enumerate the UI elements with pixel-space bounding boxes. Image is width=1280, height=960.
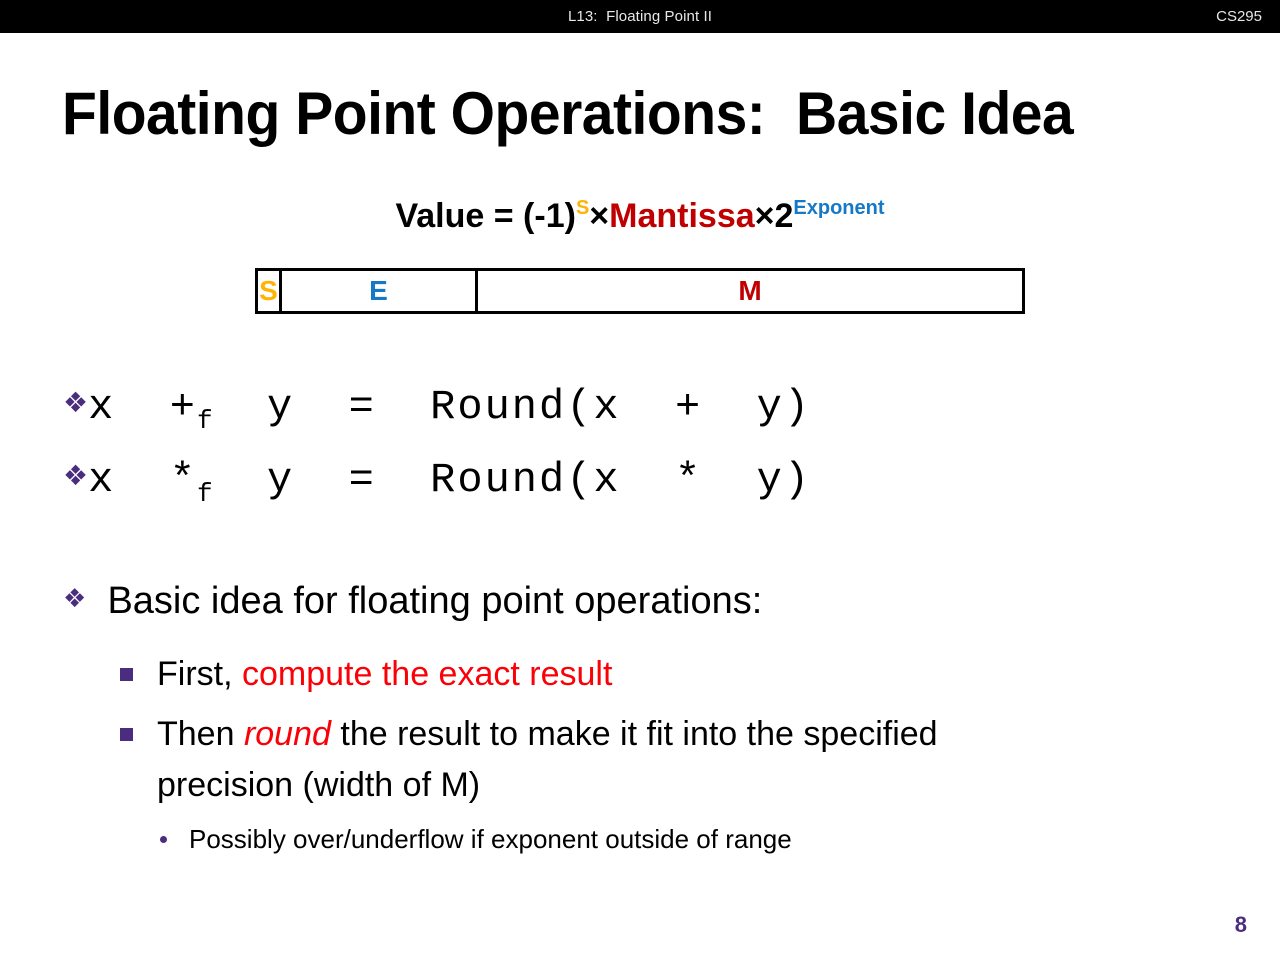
bullet-then-plain-a: Then [157,715,244,753]
page-title: Floating Point Operations: Basic Idea [62,79,1164,148]
page-number: 8 [1235,912,1247,938]
field-cell-sign: S [258,271,282,311]
square-bullet-icon [120,728,133,741]
bullet-level2-then: Then round the result to make it fit int… [120,715,938,754]
formula-sign-superscript: S [576,197,589,219]
value-formula: Value = (-1)S×Mantissa×2Exponent [0,197,1280,236]
bullet-then-highlight: round [244,715,331,753]
code-add-prefix: x + [88,383,197,431]
diamond-bullet-icon: ❖ [63,459,88,492]
bullet-level3-overflow: Possibly over/underflow if exponent outs… [160,824,792,855]
bullet-first-plain: First, [157,655,242,693]
field-cell-mantissa: M [478,271,1022,311]
formula-exponent-superscript: Exponent [793,197,884,219]
bullet-level2-then-continued: precision (width of M) [120,766,480,805]
lecture-title-label: L13: Floating Point II [0,0,1280,33]
formula-times-2: ×2 [755,197,794,235]
bullet-then-plain-b: the result to make it fit into the speci… [331,715,938,753]
code-add-subscript: f [197,406,213,436]
formula-base: Value = (-1) [395,197,575,235]
formula-times-1: × [589,197,609,235]
code-mul-prefix: x * [88,456,197,504]
code-mul-suffix: y = Round(x * y) [213,456,812,504]
course-code-label: CS295 [1216,0,1262,33]
code-add-suffix: y = Round(x + y) [213,383,812,431]
bullet-first-highlight: compute the exact result [242,655,612,693]
bit-field-diagram: S E M [255,268,1025,314]
bullet-then-line2-label: precision (width of M) [157,766,480,805]
bullet-level3-label: Possibly over/underflow if exponent outs… [189,824,792,854]
code-line-float-mul: ❖x *f y = Round(x * y) [63,456,811,509]
formula-mantissa: Mantissa [609,197,755,235]
diamond-bullet-icon: ❖ [63,584,86,614]
field-cell-exponent: E [282,271,478,311]
bullet-level1-basic-idea: ❖ Basic idea for floating point operatio… [63,580,762,623]
code-mul-subscript: f [197,479,213,509]
code-line-float-add: ❖x +f y = Round(x + y) [63,383,811,436]
square-bullet-icon [120,668,133,681]
round-bullet-icon [160,836,167,843]
bullet-level1-label: Basic idea for floating point operations… [107,580,762,622]
bullet-level2-first: First, compute the exact result [120,655,612,694]
diamond-bullet-icon: ❖ [63,386,88,419]
